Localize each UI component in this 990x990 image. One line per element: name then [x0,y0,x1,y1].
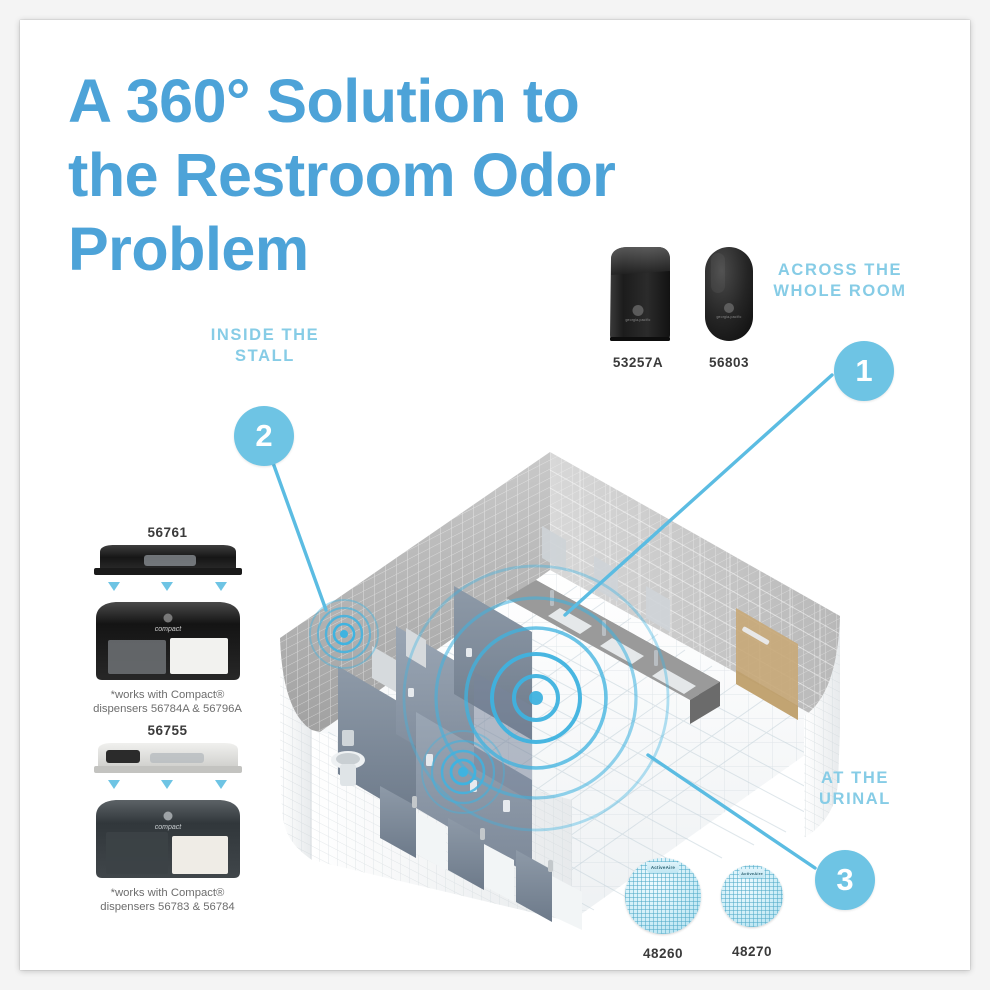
screen-brand-tab: ActiveAire [647,862,679,873]
product-sku: 53257A [590,355,686,370]
tissue-56761-image: compact [88,544,248,684]
down-arrow-icon [161,582,173,591]
title-line-2: the Restroom Odor [68,138,708,212]
install-arrows [88,582,248,591]
product-urinal-screen-48260[interactable]: ActiveAire 48260 [618,858,708,961]
callout-label-stall-line2: STALL [165,346,365,367]
product-sku: 56803 [686,355,772,370]
dispenser-53257a-image: georgia-pacific [602,245,674,343]
callout-badge-1-number: 1 [855,353,872,389]
product-tissue-56755[interactable]: 56755 [75,723,260,914]
dispenser-56803-image: georgia-pacific [703,245,755,343]
install-arrows [88,780,248,789]
product-urinal-screen-48270[interactable]: ActiveAire 48270 [712,865,792,959]
urinal-screen-48260-image: ActiveAire [625,858,701,934]
product-note: *works with Compact® dispensers 56783 & … [75,887,260,914]
georgia-pacific-wordmark: georgia-pacific [625,318,650,322]
tissue-56755-image: compact [88,742,248,882]
callout-badge-1[interactable]: 1 [834,341,894,401]
down-arrow-icon [215,780,227,789]
product-sku: 48270 [712,944,792,959]
svg-text:compact: compact [154,626,182,633]
georgia-pacific-wordmark: georgia-pacific [716,315,741,319]
down-arrow-icon [108,582,120,591]
callout-badge-3[interactable]: 3 [815,850,875,910]
product-note: *works with Compact® dispensers 56784A &… [75,689,260,716]
product-sku: 48260 [618,946,708,961]
callout-badge-2[interactable]: 2 [234,406,294,466]
poster-background: A 360° Solution to the Restroom Odor Pro… [0,0,990,990]
svg-text:compact: compact [154,824,182,831]
product-sku: 56761 [75,525,260,540]
down-arrow-icon [161,780,173,789]
title-line-1: A 360° Solution to [68,64,708,138]
callout-label-urinal: AT THE URINAL [760,768,950,810]
georgia-pacific-logo-icon [633,305,644,316]
callout-badge-3-number: 3 [836,862,853,898]
product-sku: 56755 [75,723,260,738]
urinal-screen-48270-image: ActiveAire [721,865,783,927]
georgia-pacific-logo-icon [724,303,734,313]
poster-card: A 360° Solution to the Restroom Odor Pro… [20,20,970,970]
callout-label-stall-line1: INSIDE THE [165,325,365,346]
screen-brand-tab: ActiveAire [739,869,765,878]
down-arrow-icon [108,780,120,789]
restroom-illustration [220,430,860,930]
product-dispenser-56803[interactable]: georgia-pacific 56803 [686,245,772,370]
callout-badge-2-number: 2 [255,418,272,454]
callout-label-urinal-line1: AT THE [760,768,950,789]
callout-label-stall: INSIDE THE STALL [165,325,365,367]
callout-label-urinal-line2: URINAL [760,789,950,810]
down-arrow-icon [215,582,227,591]
product-tissue-56761[interactable]: 56761 [75,525,260,716]
product-dispenser-53257a[interactable]: georgia-pacific 53257A [590,245,686,370]
